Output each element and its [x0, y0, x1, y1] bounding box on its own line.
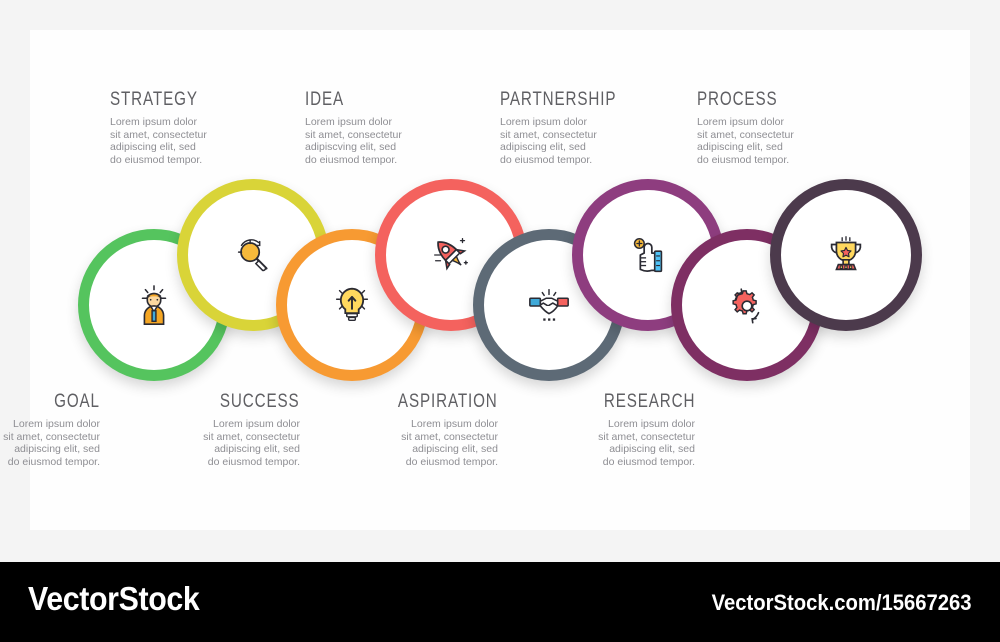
- label-body: Lorem ipsum dolor sit amet, consectetur …: [3, 418, 100, 468]
- bottom-label-aspiration: ASPIRATIONLorem ipsum dolor sit amet, co…: [373, 392, 498, 468]
- rocket-icon: [428, 232, 474, 278]
- magnifier-icon: [230, 232, 276, 278]
- bottom-label-research: RESEARCHLorem ipsum dolor sit amet, cons…: [581, 392, 695, 468]
- bottom-label-goal: GOALLorem ipsum dolor sit amet, consecte…: [3, 392, 100, 468]
- infographic-stage: STRATEGYLorem ipsum dolor sit amet, cons…: [0, 0, 1000, 642]
- bottom-label-success: SUCCESSLorem ipsum dolor sit amet, conse…: [200, 392, 300, 468]
- gear-icon: [724, 282, 770, 328]
- vectorstock-url: VectorStock.com/15667263: [712, 590, 972, 616]
- vectorstock-logo: VectorStock: [28, 580, 199, 618]
- label-body: Lorem ipsum dolor sit amet, consectetur …: [200, 418, 300, 468]
- businessman-icon: [131, 282, 177, 328]
- lightbulb-icon: [329, 282, 375, 328]
- label-body: Lorem ipsum dolor sit amet, consectetur …: [581, 418, 695, 468]
- thumbs-up-icon: [625, 232, 671, 278]
- label-title: RESEARCH: [603, 392, 695, 412]
- label-title: SUCCESS: [220, 392, 300, 412]
- label-body: Lorem ipsum dolor sit amet, consectetur …: [373, 418, 498, 468]
- label-title: GOAL: [23, 392, 101, 412]
- process-node-8-trophy[interactable]: [770, 179, 922, 331]
- handshake-icon: [526, 282, 572, 328]
- label-title: ASPIRATION: [398, 392, 498, 412]
- trophy-icon: [823, 232, 869, 278]
- process-chain: [0, 0, 1000, 500]
